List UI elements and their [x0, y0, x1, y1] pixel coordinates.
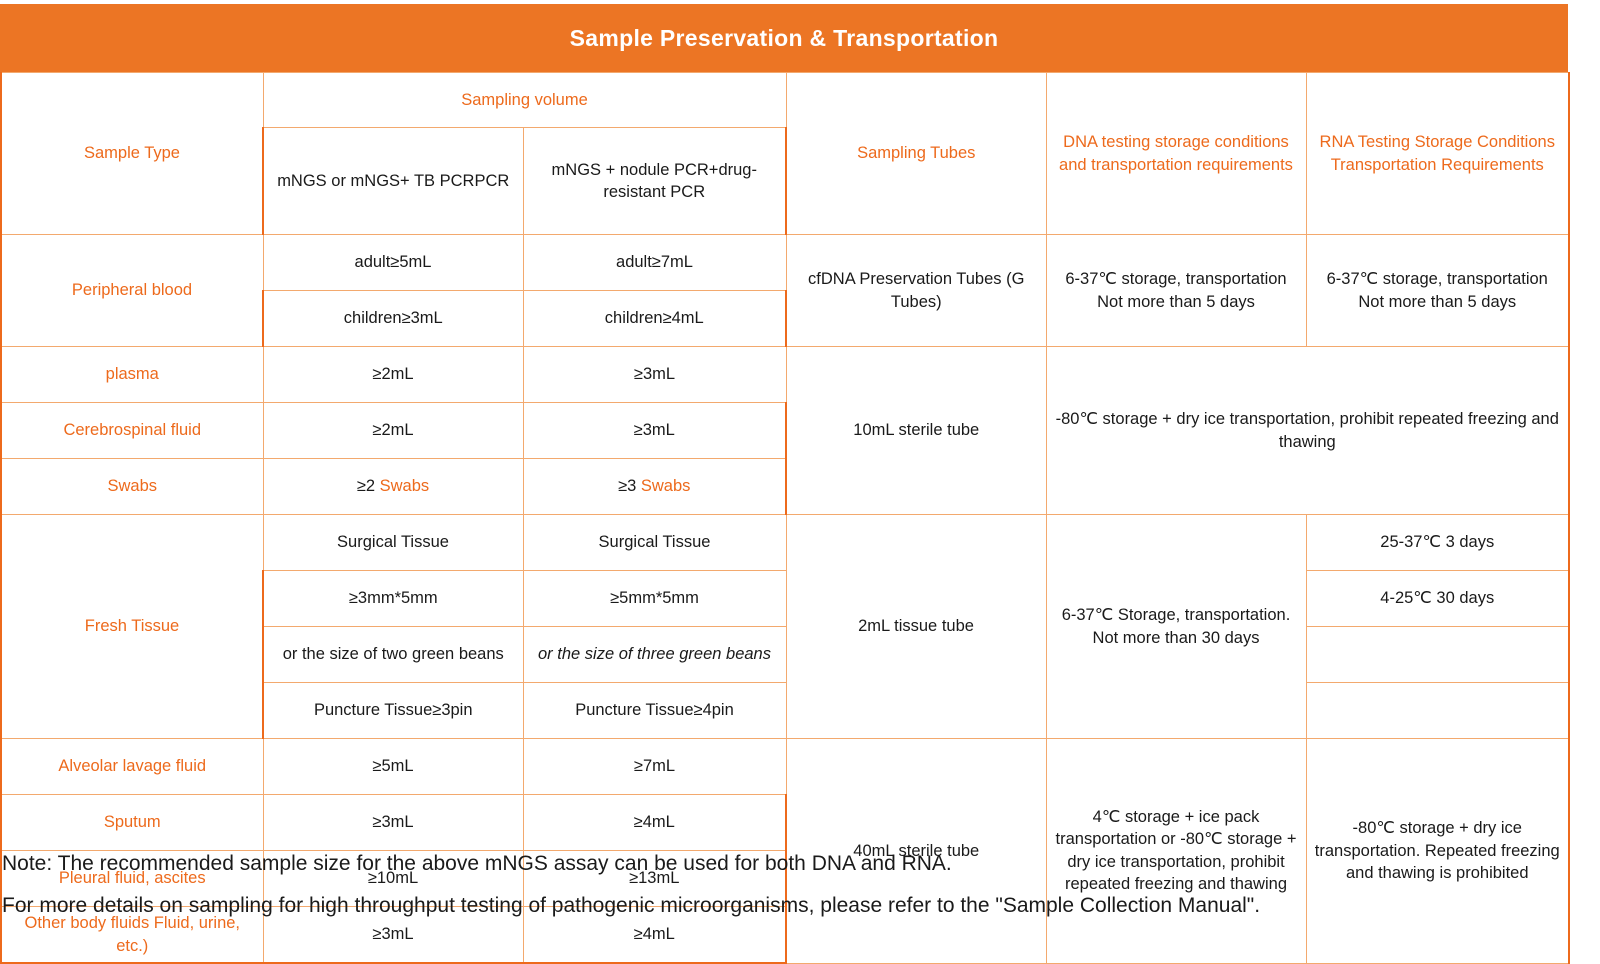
cell-plasma-v2: ≥3mL	[523, 347, 786, 403]
cell-fresh-tissue-rna-4	[1306, 683, 1569, 739]
cell-sterile10-storage: -80℃ storage + dry ice transportation, p…	[1046, 347, 1569, 515]
cell-sputum-v1: ≥3mL	[263, 795, 523, 851]
notes-section: Note: The recommended sample size for th…	[2, 848, 1592, 931]
cell-swabs-v2-count: ≥3	[618, 477, 641, 495]
row-label-cerebrospinal-fluid: Cerebrospinal fluid	[1, 403, 263, 459]
cell-peripheral-dna: 6-37℃ storage, transportation Not more t…	[1046, 235, 1306, 347]
note-line-1: Note: The recommended sample size for th…	[2, 848, 1592, 880]
cell-swabs-v2-unit: Swabs	[641, 477, 691, 495]
col-header-sampling-tubes: Sampling Tubes	[786, 73, 1046, 235]
cell-fresh-tissue-r4-v1: Puncture Tissue≥3pin	[263, 683, 523, 739]
cell-fresh-tissue-rna-2: 4-25℃ 30 days	[1306, 571, 1569, 627]
table-header-row-1: Sample Type Sampling volume Sampling Tub…	[1, 73, 1569, 128]
table-row-peripheral-blood-adult: Peripheral blood adult≥5mL adult≥7mL cfD…	[1, 235, 1569, 291]
cell-sputum-v2: ≥4mL	[523, 795, 786, 851]
cell-peripheral-children-v2: children≥4mL	[523, 291, 786, 347]
row-label-peripheral-blood: Peripheral blood	[1, 235, 263, 347]
cell-swabs-v1-unit: Swabs	[380, 477, 430, 495]
row-label-sputum: Sputum	[1, 795, 263, 851]
sample-preservation-table: Sample Type Sampling volume Sampling Tub…	[0, 72, 1570, 964]
cell-swabs-v2: ≥3 Swabs	[523, 459, 786, 515]
cell-swabs-v1-count: ≥2	[357, 477, 380, 495]
table-row-fresh-tissue-1: Fresh Tissue Surgical Tissue Surgical Ti…	[1, 515, 1569, 571]
cell-alveolar-v1: ≥5mL	[263, 739, 523, 795]
col-header-rna-conditions: RNA Testing Storage Conditions Transport…	[1306, 73, 1569, 235]
cell-fresh-tissue-r1-v2: Surgical Tissue	[523, 515, 786, 571]
cell-sterile10-tube: 10mL sterile tube	[786, 347, 1046, 515]
cell-fresh-tissue-r3-v1: or the size of two green beans	[263, 627, 523, 683]
row-label-alveolar-lavage-fluid: Alveolar lavage fluid	[1, 739, 263, 795]
page-title: Sample Preservation & Transportation	[570, 25, 999, 52]
cell-peripheral-adult-v1: adult≥5mL	[263, 235, 523, 291]
table-row-plasma: plasma ≥2mL ≥3mL 10mL sterile tube -80℃ …	[1, 347, 1569, 403]
cell-fresh-tissue-dna: 6-37℃ Storage, transportation. Not more …	[1046, 515, 1306, 739]
row-label-plasma: plasma	[1, 347, 263, 403]
row-label-swabs: Swabs	[1, 459, 263, 515]
cell-fresh-tissue-r4-v2: Puncture Tissue≥4pin	[523, 683, 786, 739]
col-header-sample-type: Sample Type	[1, 73, 263, 235]
table-row-alveolar-lavage-fluid: Alveolar lavage fluid ≥5mL ≥7mL 40mL ste…	[1, 739, 1569, 795]
cell-peripheral-rna: 6-37℃ storage, transportation Not more t…	[1306, 235, 1569, 347]
cell-fresh-tissue-rna-3	[1306, 627, 1569, 683]
cell-fresh-tissue-rna-1: 25-37℃ 3 days	[1306, 515, 1569, 571]
cell-swabs-v1: ≥2 Swabs	[263, 459, 523, 515]
note-line-2: For more details on sampling for high th…	[2, 890, 1592, 922]
cell-fresh-tissue-r1-v1: Surgical Tissue	[263, 515, 523, 571]
cell-csf-v1: ≥2mL	[263, 403, 523, 459]
cell-alveolar-v2: ≥7mL	[523, 739, 786, 795]
cell-csf-v2: ≥3mL	[523, 403, 786, 459]
col-header-volume-1: mNGS or mNGS+ TB PCRPCR	[263, 128, 523, 235]
col-header-dna-conditions: DNA testing storage conditions and trans…	[1046, 73, 1306, 235]
page-root: Sample Preservation & Transportation Sam…	[0, 0, 1600, 946]
title-banner: Sample Preservation & Transportation	[0, 4, 1568, 72]
cell-fresh-tissue-r2-v2: ≥5mm*5mm	[523, 571, 786, 627]
cell-peripheral-tube: cfDNA Preservation Tubes (G Tubes)	[786, 235, 1046, 347]
cell-peripheral-adult-v2: adult≥7mL	[523, 235, 786, 291]
cell-fresh-tissue-r2-v1: ≥3mm*5mm	[263, 571, 523, 627]
cell-fresh-tissue-r3-v2: or the size of three green beans	[523, 627, 786, 683]
cell-fresh-tissue-tube: 2mL tissue tube	[786, 515, 1046, 739]
col-header-volume-2: mNGS + nodule PCR+drug-resistant PCR	[523, 128, 786, 235]
cell-peripheral-children-v1: children≥3mL	[263, 291, 523, 347]
cell-plasma-v1: ≥2mL	[263, 347, 523, 403]
row-label-fresh-tissue: Fresh Tissue	[1, 515, 263, 739]
col-header-sampling-volume: Sampling volume	[263, 73, 786, 128]
